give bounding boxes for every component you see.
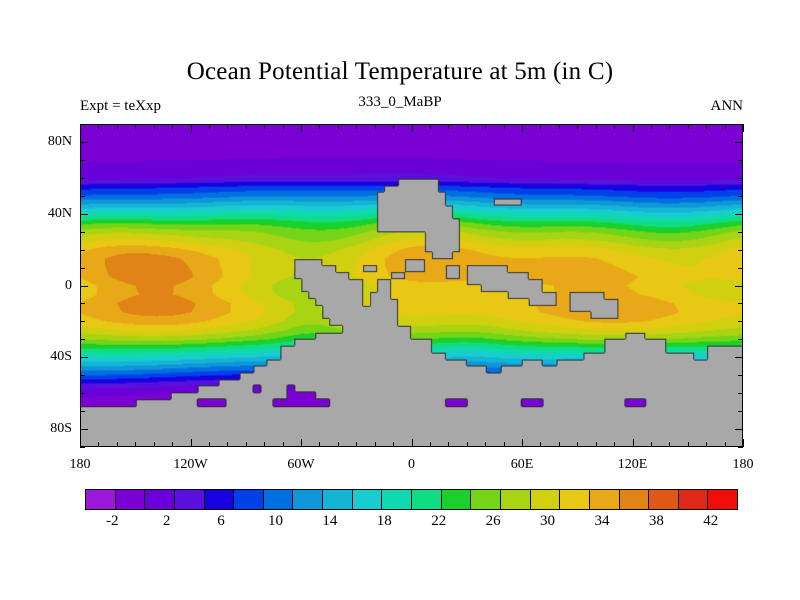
tick-mark — [375, 124, 376, 129]
tick-mark — [669, 442, 670, 447]
colorbar-band — [353, 490, 383, 509]
tick-mark — [356, 442, 357, 447]
tick-mark — [283, 124, 284, 129]
colorbar-tick-label: 26 — [486, 513, 501, 530]
tick-mark — [738, 321, 743, 322]
y-axis-tick-label: 80N — [26, 134, 72, 150]
tick-mark — [738, 232, 743, 233]
y-axis-tick-label: 80S — [26, 421, 72, 437]
tick-mark — [559, 442, 560, 447]
tick-mark — [485, 442, 486, 447]
tick-mark — [412, 439, 413, 447]
tick-mark — [738, 303, 743, 304]
tick-mark — [80, 160, 85, 161]
tick-mark — [209, 442, 210, 447]
tick-mark — [98, 442, 99, 447]
x-axis-tick-label: 120E — [618, 457, 648, 473]
tick-mark — [191, 124, 192, 132]
tick-mark — [633, 124, 634, 132]
tick-mark — [283, 442, 284, 447]
tick-mark — [577, 124, 578, 129]
colorbar-tick-label: 14 — [322, 513, 337, 530]
page-title: Ocean Potential Temperature at 5m (in C) — [0, 58, 800, 86]
colorbar-band — [86, 490, 116, 509]
tick-mark — [738, 447, 743, 448]
tick-mark — [430, 124, 431, 129]
colorbar-band — [471, 490, 501, 509]
tick-mark — [227, 442, 228, 447]
tick-mark — [319, 442, 320, 447]
tick-mark — [540, 124, 541, 129]
y-axis-tick-label: 0 — [26, 278, 72, 294]
period-label: ANN — [711, 98, 744, 115]
tick-mark — [80, 411, 85, 412]
tick-mark — [80, 339, 85, 340]
tick-mark — [743, 124, 744, 132]
colorbar-band — [708, 490, 737, 509]
tick-mark — [80, 286, 88, 287]
tick-mark — [301, 439, 302, 447]
tick-mark — [743, 439, 744, 447]
tick-mark — [80, 250, 85, 251]
dataset-label: 333_0_MaBP — [0, 94, 800, 111]
x-axis-tick-label: 180 — [70, 457, 91, 473]
colorbar-tick-label: 38 — [649, 513, 664, 530]
tick-mark — [154, 124, 155, 129]
tick-mark — [738, 178, 743, 179]
tick-mark — [735, 357, 743, 358]
tick-mark — [738, 268, 743, 269]
colorbar-band — [382, 490, 412, 509]
tick-mark — [80, 124, 85, 125]
y-axis-tick-label: 40N — [26, 206, 72, 222]
tick-mark — [633, 439, 634, 447]
tick-mark — [80, 321, 85, 322]
tick-mark — [738, 393, 743, 394]
colorbar-band — [234, 490, 264, 509]
tick-mark — [264, 442, 265, 447]
tick-mark — [154, 442, 155, 447]
tick-mark — [725, 442, 726, 447]
tick-mark — [614, 442, 615, 447]
tick-mark — [80, 178, 85, 179]
tick-mark — [559, 124, 560, 129]
tick-mark — [301, 124, 302, 132]
tick-mark — [191, 439, 192, 447]
figure: Ocean Potential Temperature at 5m (in C)… — [0, 0, 800, 600]
tick-mark — [706, 124, 707, 129]
colorbar-band — [175, 490, 205, 509]
tick-mark — [735, 286, 743, 287]
tick-mark — [614, 124, 615, 129]
colorbar-tick-label: 10 — [268, 513, 283, 530]
tick-mark — [412, 124, 413, 132]
tick-mark — [264, 124, 265, 129]
x-axis-tick-label: 60W — [287, 457, 314, 473]
tick-mark — [393, 124, 394, 129]
tick-mark — [651, 124, 652, 129]
colorbar-band — [649, 490, 679, 509]
tick-mark — [80, 303, 85, 304]
tick-mark — [467, 442, 468, 447]
tick-mark — [80, 439, 81, 447]
tick-mark — [430, 442, 431, 447]
tick-mark — [80, 142, 88, 143]
tick-mark — [738, 160, 743, 161]
tick-mark — [117, 124, 118, 129]
colorbar — [85, 489, 738, 510]
map-panel — [80, 124, 743, 447]
colorbar-band — [145, 490, 175, 509]
tick-mark — [738, 196, 743, 197]
x-axis-tick-label: 180 — [733, 457, 754, 473]
tick-mark — [227, 124, 228, 129]
tick-mark — [688, 124, 689, 129]
x-axis-tick-label: 120W — [173, 457, 207, 473]
tick-mark — [706, 442, 707, 447]
colorbar-band — [412, 490, 442, 509]
tick-mark — [356, 124, 357, 129]
tick-mark — [172, 124, 173, 129]
tick-mark — [80, 375, 85, 376]
colorbar-band — [323, 490, 353, 509]
tick-mark — [738, 411, 743, 412]
tick-mark — [577, 442, 578, 447]
tick-mark — [669, 124, 670, 129]
colorbar-tick-label: 6 — [217, 513, 225, 530]
tick-mark — [596, 124, 597, 129]
temperature-field — [81, 125, 742, 446]
tick-mark — [448, 442, 449, 447]
colorbar-band — [590, 490, 620, 509]
tick-mark — [504, 124, 505, 129]
tick-mark — [522, 439, 523, 447]
tick-mark — [135, 124, 136, 129]
tick-mark — [246, 442, 247, 447]
tick-mark — [393, 442, 394, 447]
colorbar-band — [116, 490, 146, 509]
tick-mark — [209, 124, 210, 129]
tick-mark — [135, 442, 136, 447]
colorbar-tick-label: 30 — [540, 513, 555, 530]
colorbar-band — [205, 490, 235, 509]
tick-mark — [246, 124, 247, 129]
tick-mark — [338, 124, 339, 129]
colorbar-band — [620, 490, 650, 509]
colorbar-band — [264, 490, 294, 509]
colorbar-tick-label: 34 — [594, 513, 609, 530]
tick-mark — [80, 196, 85, 197]
tick-mark — [319, 124, 320, 129]
tick-mark — [725, 124, 726, 129]
tick-mark — [596, 442, 597, 447]
tick-mark — [448, 124, 449, 129]
x-axis-tick-label: 0 — [408, 457, 415, 473]
colorbar-tick-label: -2 — [106, 513, 119, 530]
tick-mark — [117, 442, 118, 447]
tick-mark — [80, 393, 85, 394]
colorbar-band — [679, 490, 709, 509]
tick-mark — [738, 339, 743, 340]
tick-mark — [651, 442, 652, 447]
tick-mark — [172, 442, 173, 447]
colorbar-band — [442, 490, 472, 509]
tick-mark — [738, 375, 743, 376]
tick-mark — [80, 268, 85, 269]
tick-mark — [735, 429, 743, 430]
tick-mark — [467, 124, 468, 129]
tick-mark — [485, 124, 486, 129]
tick-mark — [688, 442, 689, 447]
tick-mark — [80, 429, 88, 430]
y-axis-tick-label: 40S — [26, 349, 72, 365]
tick-mark — [80, 357, 88, 358]
tick-mark — [80, 232, 85, 233]
tick-mark — [375, 442, 376, 447]
tick-mark — [80, 447, 85, 448]
colorbar-tick-label: 18 — [377, 513, 392, 530]
tick-mark — [735, 214, 743, 215]
tick-mark — [338, 442, 339, 447]
tick-mark — [98, 124, 99, 129]
tick-mark — [540, 442, 541, 447]
tick-mark — [80, 124, 81, 132]
tick-mark — [504, 442, 505, 447]
colorbar-band — [293, 490, 323, 509]
colorbar-band — [501, 490, 531, 509]
colorbar-band — [531, 490, 561, 509]
tick-mark — [738, 124, 743, 125]
tick-mark — [80, 214, 88, 215]
tick-mark — [738, 250, 743, 251]
colorbar-tick-label: 22 — [431, 513, 446, 530]
tick-mark — [735, 142, 743, 143]
tick-mark — [522, 124, 523, 132]
colorbar-tick-label: 42 — [703, 513, 718, 530]
colorbar-tick-label: 2 — [163, 513, 171, 530]
colorbar-band — [560, 490, 590, 509]
x-axis-tick-label: 60E — [511, 457, 534, 473]
